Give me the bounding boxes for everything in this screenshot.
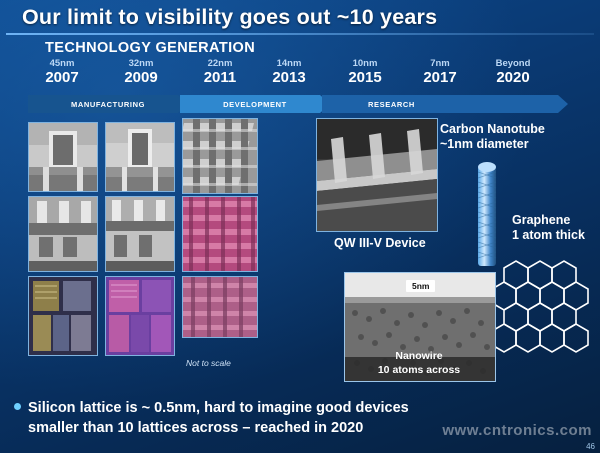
micrograph-22nm-device bbox=[182, 276, 258, 338]
timeline-node-name-4: 10nm bbox=[325, 58, 405, 69]
label-carbon-nanotube-line1: Carbon Nanotube bbox=[440, 122, 545, 137]
sem-array-icon bbox=[183, 197, 257, 271]
micrograph-22nm-array bbox=[182, 196, 258, 272]
graphene-lattice-icon bbox=[486, 256, 596, 366]
timeline-arrow-bar: MANUFACTURING DEVELOPMENT RESEARCH bbox=[28, 95, 568, 113]
caption-qw-device: QW III-V Device bbox=[334, 236, 426, 251]
slide-canvas: Our limit to visibility goes out ~10 yea… bbox=[0, 0, 600, 453]
timeline-node-year-2: 2011 bbox=[180, 69, 260, 86]
caption-not-to-scale: Not to scale bbox=[186, 358, 231, 368]
sem-image-icon bbox=[29, 123, 97, 191]
timeline-node-year-6: 2020 bbox=[470, 69, 556, 86]
page-number: 46 bbox=[586, 442, 595, 451]
phase-research: RESEARCH bbox=[322, 95, 568, 113]
sem-image-icon bbox=[317, 119, 437, 231]
sem-image-icon bbox=[183, 277, 257, 337]
timeline-node-year-4: 2015 bbox=[325, 69, 405, 86]
timeline-node-0: 45nm 2007 bbox=[22, 58, 102, 86]
timeline-node-2: 22nm 2011 bbox=[180, 58, 260, 86]
timeline-node-name-1: 32nm bbox=[101, 58, 181, 69]
micrograph-45nm-die bbox=[28, 276, 98, 356]
timeline-node-6: Beyond 2020 bbox=[470, 58, 556, 86]
phase-manufacturing: MANUFACTURING bbox=[28, 95, 188, 113]
label-nanowire-line2: 10 atoms across bbox=[354, 364, 484, 377]
timeline-node-5: 7nm 2017 bbox=[400, 58, 480, 86]
timeline-node-year-3: 2013 bbox=[249, 69, 329, 86]
timeline-node-year-0: 2007 bbox=[22, 69, 102, 86]
timeline-nodes: 45nm 2007 32nm 2009 22nm 2011 14nm 2013 … bbox=[0, 58, 600, 98]
carbon-nanotube-illustration-icon bbox=[474, 158, 500, 268]
footer-bullet-line2: smaller than 10 lattices across – reache… bbox=[28, 418, 363, 438]
timeline-node-name-2: 22nm bbox=[180, 58, 260, 69]
phase-development: DEVELOPMENT bbox=[180, 95, 330, 113]
label-graphene-line1: Graphene bbox=[512, 213, 570, 228]
micrograph-45nm-crosssection bbox=[28, 196, 98, 272]
scale-bar-label: 5nm bbox=[406, 280, 435, 292]
label-carbon-nanotube-line2: ~1nm diameter bbox=[440, 137, 529, 152]
sem-image-icon bbox=[106, 197, 174, 271]
phase-label-manufacturing: MANUFACTURING bbox=[28, 95, 188, 113]
sem-image-icon bbox=[106, 123, 174, 191]
section-heading: TECHNOLOGY GENERATION bbox=[45, 40, 255, 56]
micrograph-45nm-transistor bbox=[28, 122, 98, 192]
timeline-node-name-6: Beyond bbox=[470, 58, 556, 69]
timeline-node-name-5: 7nm bbox=[400, 58, 480, 69]
timeline-node-1: 32nm 2009 bbox=[101, 58, 181, 86]
micrograph-22nm-finfet bbox=[182, 118, 258, 194]
label-nanowire-line1: Nanowire bbox=[354, 350, 484, 363]
timeline-node-name-0: 45nm bbox=[22, 58, 102, 69]
bullet-dot-icon bbox=[14, 403, 21, 410]
timeline-node-4: 10nm 2015 bbox=[325, 58, 405, 86]
die-photo-icon bbox=[29, 277, 97, 355]
label-graphene-line2: 1 atom thick bbox=[512, 228, 585, 243]
page-title: Our limit to visibility goes out ~10 yea… bbox=[22, 5, 437, 30]
die-photo-icon bbox=[106, 277, 174, 355]
timeline-node-year-5: 2017 bbox=[400, 69, 480, 86]
micrograph-qw-iii-v-device bbox=[316, 118, 438, 232]
micrograph-32nm-crosssection bbox=[105, 196, 175, 272]
watermark: www.cntronics.com bbox=[442, 422, 592, 439]
phase-label-development: DEVELOPMENT bbox=[180, 95, 330, 113]
sem-finfet-icon bbox=[183, 119, 257, 193]
micrograph-32nm-transistor bbox=[105, 122, 175, 192]
footer-bullet-line1: Silicon lattice is ~ 0.5nm, hard to imag… bbox=[28, 400, 409, 416]
timeline-node-name-3: 14nm bbox=[249, 58, 329, 69]
timeline-node-3: 14nm 2013 bbox=[249, 58, 329, 86]
sem-image-icon bbox=[29, 197, 97, 271]
title-divider bbox=[6, 33, 594, 35]
phase-label-research: RESEARCH bbox=[322, 95, 600, 113]
timeline-node-year-1: 2009 bbox=[101, 69, 181, 86]
micrograph-32nm-die bbox=[105, 276, 175, 356]
